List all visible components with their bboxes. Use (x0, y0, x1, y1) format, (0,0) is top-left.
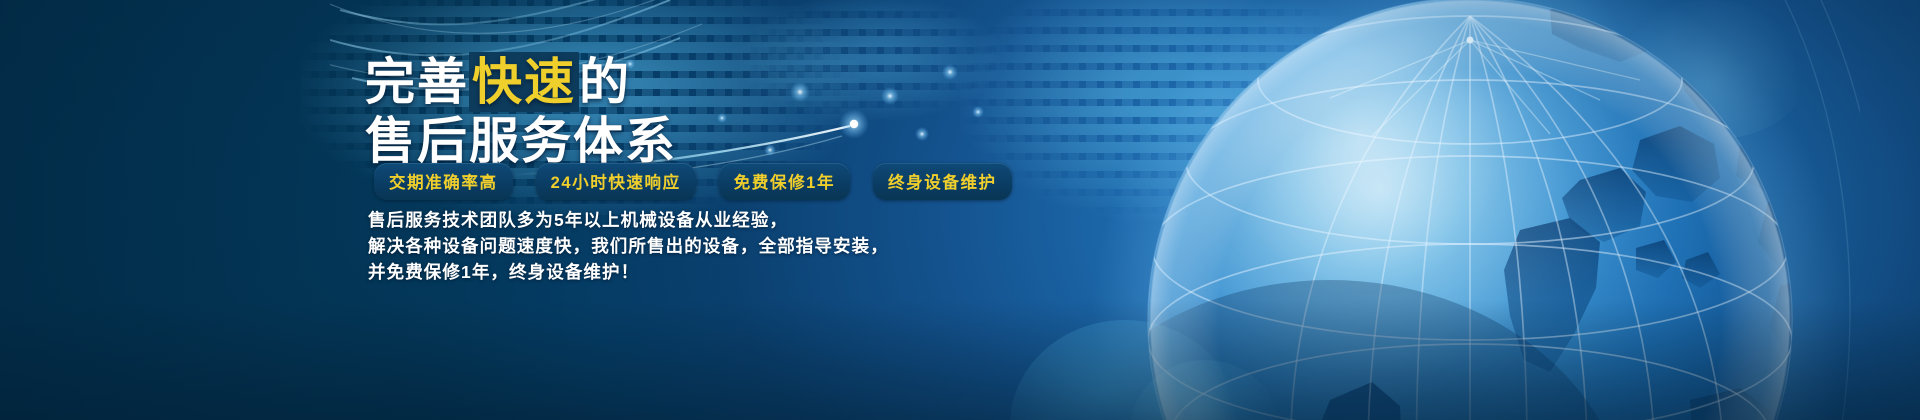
feature-badge[interactable]: 免费保修1年 (719, 163, 850, 200)
description-line: 售后服务技术团队多为5年以上机械设备从业经验， (368, 207, 889, 233)
headline-line-1: 完善快速的 (365, 57, 677, 107)
headline-word-3: 的 (579, 54, 631, 110)
feature-badge[interactable]: 交期准确率高 (374, 163, 513, 200)
headline-word-1: 完善 (365, 54, 469, 110)
banner-headline: 完善快速的 售后服务体系 (365, 57, 677, 166)
description-line: 并免费保修1年，终身设备维护！ (368, 259, 889, 285)
headline-line-2: 售后服务体系 (365, 116, 677, 166)
feature-badge-list: 交期准确率高 24小时快速响应 免费保修1年 终身设备维护 (374, 163, 1012, 200)
banner-description: 售后服务技术团队多为5年以上机械设备从业经验， 解决各种设备问题速度快，我们所售… (368, 207, 889, 285)
feature-badge[interactable]: 终身设备维护 (873, 163, 1012, 200)
description-line: 解决各种设备问题速度快，我们所售出的设备，全部指导安装， (368, 233, 889, 259)
feature-badge[interactable]: 24小时快速响应 (536, 163, 696, 200)
service-banner: 完善快速的 售后服务体系 交期准确率高 24小时快速响应 免费保修1年 终身设备… (0, 0, 1920, 420)
banner-content: 完善快速的 售后服务体系 交期准确率高 24小时快速响应 免费保修1年 终身设备… (0, 0, 1000, 420)
headline-word-highlight: 快速 (469, 52, 579, 112)
